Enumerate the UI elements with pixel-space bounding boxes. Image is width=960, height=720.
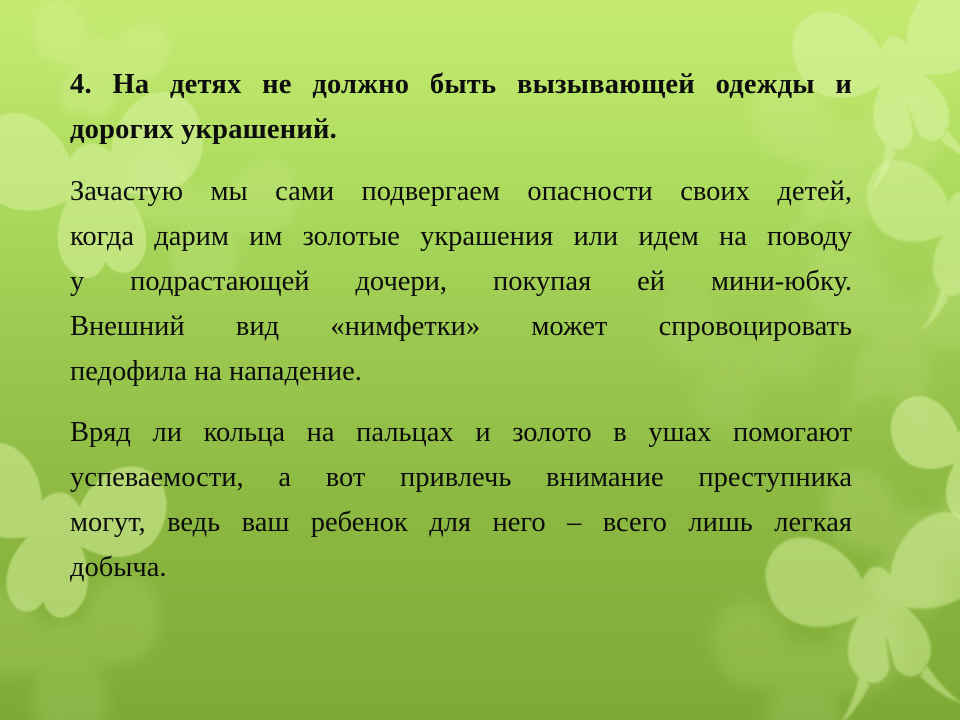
butterfly-bottom-left-faint-icon	[0, 567, 184, 720]
paragraph-line: могут, ведь ваш ребенок для него – всего…	[70, 500, 852, 545]
butterfly-right-upper-mid-icon	[881, 382, 960, 552]
paragraph-line: добыча.	[70, 545, 852, 590]
paragraph-line: успеваемости, а вот привлечь внимание пр…	[70, 455, 852, 500]
heading-line: 4. На детях не должно быть вызывающей од…	[70, 62, 852, 107]
page-title: 4. На детях не должно быть вызывающей од…	[70, 62, 852, 152]
slide: 4. На детях не должно быть вызывающей од…	[0, 0, 960, 720]
paragraph-line: Вряд ли кольца на пальцах и золото в уша…	[70, 410, 852, 455]
slide-content: 4. На детях не должно быть вызывающей од…	[70, 62, 852, 590]
paragraph-line: педофила на нападение.	[70, 349, 852, 394]
paragraph-line: Зачастую мы сами подвергаем опасности св…	[70, 169, 852, 214]
paragraph-line: когда дарим им золотые украшения или иде…	[70, 214, 852, 259]
paragraph-line: Внешний вид «нимфетки» может спровоциров…	[70, 304, 852, 349]
butterfly-bottom-right-faint-icon	[694, 593, 916, 720]
paragraph-2: Вряд ли кольца на пальцах и золото в уша…	[70, 410, 852, 590]
paragraph-1: Зачастую мы сами подвергаем опасности св…	[70, 169, 852, 394]
paragraph-line: у подрастающей дочери, покупая ей мини-ю…	[70, 259, 852, 304]
butterfly-right-swallowtail-icon	[859, 140, 960, 339]
heading-line: дорогих украшений.	[70, 107, 852, 152]
